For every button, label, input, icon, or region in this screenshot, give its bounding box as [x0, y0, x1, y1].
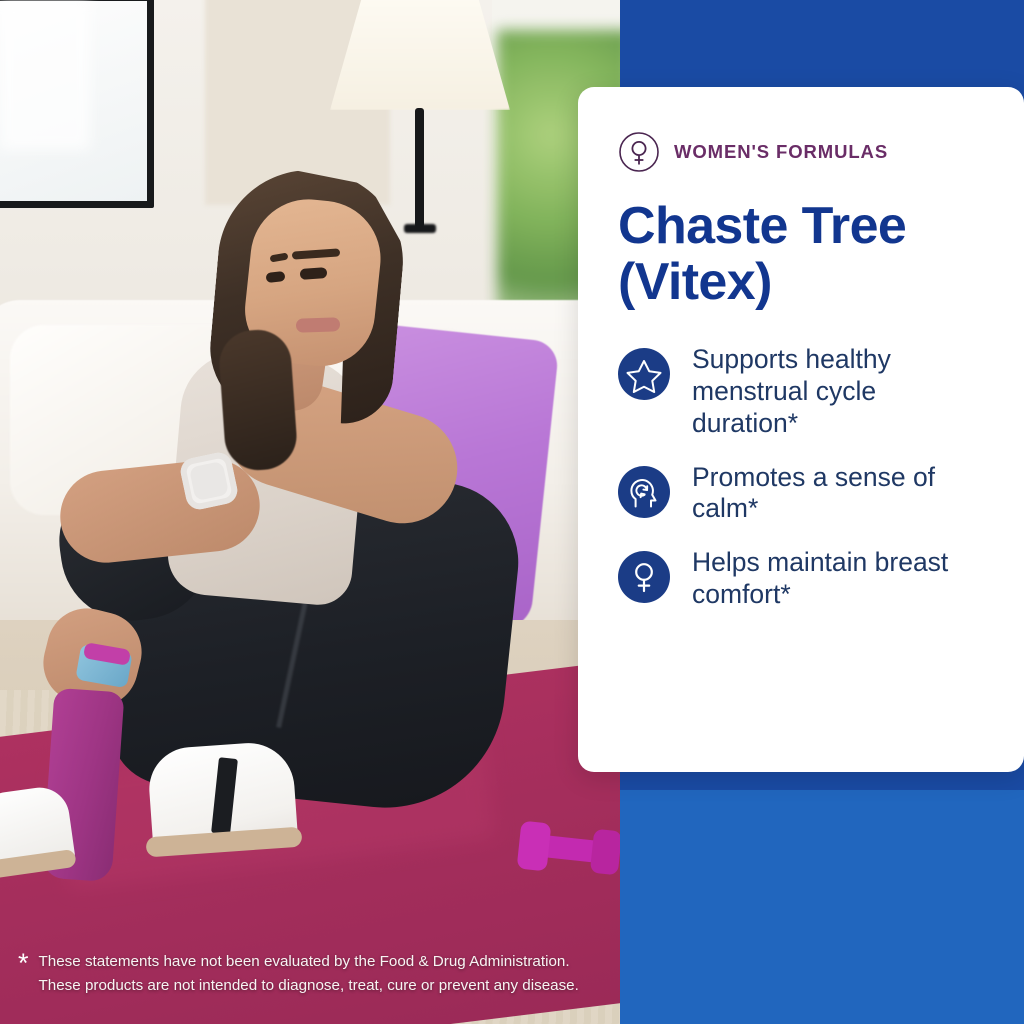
product-info-card: WOMEN'S FORMULAS Chaste Tree (Vitex) Sup… — [578, 87, 1024, 772]
fda-disclaimer: * These statements have not been evaluat… — [18, 952, 618, 996]
disclaimer-line-1: These statements have not been evaluated… — [39, 952, 579, 972]
benefit-item: Promotes a sense of calm* — [618, 462, 984, 526]
head-refresh-calm-icon — [618, 466, 670, 518]
photo-model-hair-strand — [217, 328, 299, 473]
title-line-1: Chaste Tree — [618, 199, 984, 255]
benefit-item: Supports healthy menstrual cycle duratio… — [618, 344, 984, 439]
photo-lamp-shade — [330, 0, 510, 110]
title-line-2: (Vitex) — [618, 255, 984, 311]
photo-model-eye-near — [300, 267, 328, 280]
benefit-item: Helps maintain breast comfort* — [618, 547, 984, 611]
photo-dumbbell-head-left — [517, 821, 552, 872]
venus-symbol-icon — [618, 551, 670, 603]
benefit-text: Supports healthy menstrual cycle duratio… — [692, 344, 984, 439]
benefits-list: Supports healthy menstrual cycle duratio… — [618, 344, 984, 611]
benefit-text: Promotes a sense of calm* — [692, 462, 984, 526]
photo-window-glow — [0, 0, 90, 150]
star-icon — [618, 348, 670, 400]
blue-panel-bottom — [620, 790, 1024, 1024]
disclaimer-line-2: These products are not intended to diagn… — [39, 976, 579, 996]
photo-lamp-base — [404, 224, 436, 233]
venus-symbol-circle-icon — [618, 131, 660, 173]
ad-creative: WOMEN'S FORMULAS Chaste Tree (Vitex) Sup… — [0, 0, 1024, 1024]
category-label: WOMEN'S FORMULAS — [674, 141, 888, 163]
page-title: Chaste Tree (Vitex) — [618, 199, 984, 310]
disclaimer-asterisk: * — [18, 950, 29, 977]
category-eyebrow: WOMEN'S FORMULAS — [618, 131, 984, 173]
photo-dumbbell-head-right — [590, 829, 620, 876]
lifestyle-photo — [0, 0, 620, 1024]
benefit-text: Helps maintain breast comfort* — [692, 547, 984, 611]
photo-model-lips — [296, 317, 340, 333]
photo-lamp-stem — [415, 108, 424, 228]
